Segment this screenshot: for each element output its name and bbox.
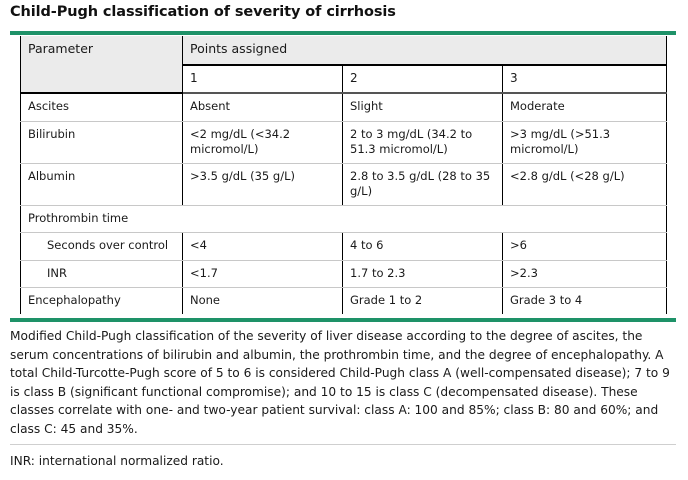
row-value-point-1: >3.5 g/dL (35 g/L) xyxy=(183,163,343,205)
row-value-point-3: Grade 3 to 4 xyxy=(503,287,667,314)
row-value-point-1: <2 mg/dL (<34.2 micromol/L) xyxy=(183,121,343,163)
row-label: INR xyxy=(21,260,183,287)
row-value-point-2: 1.7 to 2.3 xyxy=(343,260,503,287)
row-value-point-3: Moderate xyxy=(503,93,667,121)
abbreviation-note: INR: international normalized ratio. xyxy=(10,452,224,470)
table-row: AscitesAbsentSlightModerate xyxy=(21,93,667,121)
table-row: Albumin>3.5 g/dL (35 g/L)2.8 to 3.5 g/dL… xyxy=(21,163,667,205)
table-row: Bilirubin<2 mg/dL (<34.2 micromol/L)2 to… xyxy=(21,121,667,163)
row-label: Albumin xyxy=(21,163,183,205)
row-value-point-3: >3 mg/dL (>51.3 micromol/L) xyxy=(503,121,667,163)
table-row: EncephalopathyNoneGrade 1 to 2Grade 3 to… xyxy=(21,287,667,314)
row-value-point-1: Absent xyxy=(183,93,343,121)
row-label: Ascites xyxy=(21,93,183,121)
row-value-point-3: >2.3 xyxy=(503,260,667,287)
table-body: AscitesAbsentSlightModerateBilirubin<2 m… xyxy=(21,93,667,314)
table-row: Seconds over control<44 to 6>6 xyxy=(21,233,667,260)
header-parameter: Parameter xyxy=(21,36,183,93)
row-label: Seconds over control xyxy=(21,233,183,260)
row-value-point-1: None xyxy=(183,287,343,314)
row-value-point-2: 2.8 to 3.5 g/dL (28 to 35 g/L) xyxy=(343,163,503,205)
row-value-point-3: >6 xyxy=(503,233,667,260)
child-pugh-table-wrapper: Parameter Points assigned 1 2 3 AscitesA… xyxy=(20,36,666,314)
row-value-point-2: Slight xyxy=(343,93,503,121)
footnote-text: Modified Child-Pugh classification of th… xyxy=(10,327,670,438)
row-label: Bilirubin xyxy=(21,121,183,163)
footnote-divider xyxy=(10,444,676,445)
row-value-point-3: <2.8 g/dL (<28 g/L) xyxy=(503,163,667,205)
row-group-label: Prothrombin time xyxy=(21,206,667,233)
row-value-point-2: 2 to 3 mg/dL (34.2 to 51.3 micromol/L) xyxy=(343,121,503,163)
header-points-assigned: Points assigned xyxy=(183,36,667,65)
header-point-1: 1 xyxy=(183,65,343,94)
table-row: INR<1.71.7 to 2.3>2.3 xyxy=(21,260,667,287)
top-accent-rule xyxy=(10,31,676,35)
row-value-point-1: <1.7 xyxy=(183,260,343,287)
header-row-top: Parameter Points assigned xyxy=(21,36,667,65)
table-row: Prothrombin time xyxy=(21,206,667,233)
header-point-2: 2 xyxy=(343,65,503,94)
row-value-point-2: 4 to 6 xyxy=(343,233,503,260)
table-header: Parameter Points assigned 1 2 3 xyxy=(21,36,667,93)
row-value-point-1: <4 xyxy=(183,233,343,260)
row-value-point-2: Grade 1 to 2 xyxy=(343,287,503,314)
header-point-3: 3 xyxy=(503,65,667,94)
bottom-accent-rule xyxy=(10,318,676,322)
child-pugh-table: Parameter Points assigned 1 2 3 AscitesA… xyxy=(20,36,667,314)
row-label: Encephalopathy xyxy=(21,287,183,314)
page-title: Child-Pugh classification of severity of… xyxy=(10,4,396,20)
